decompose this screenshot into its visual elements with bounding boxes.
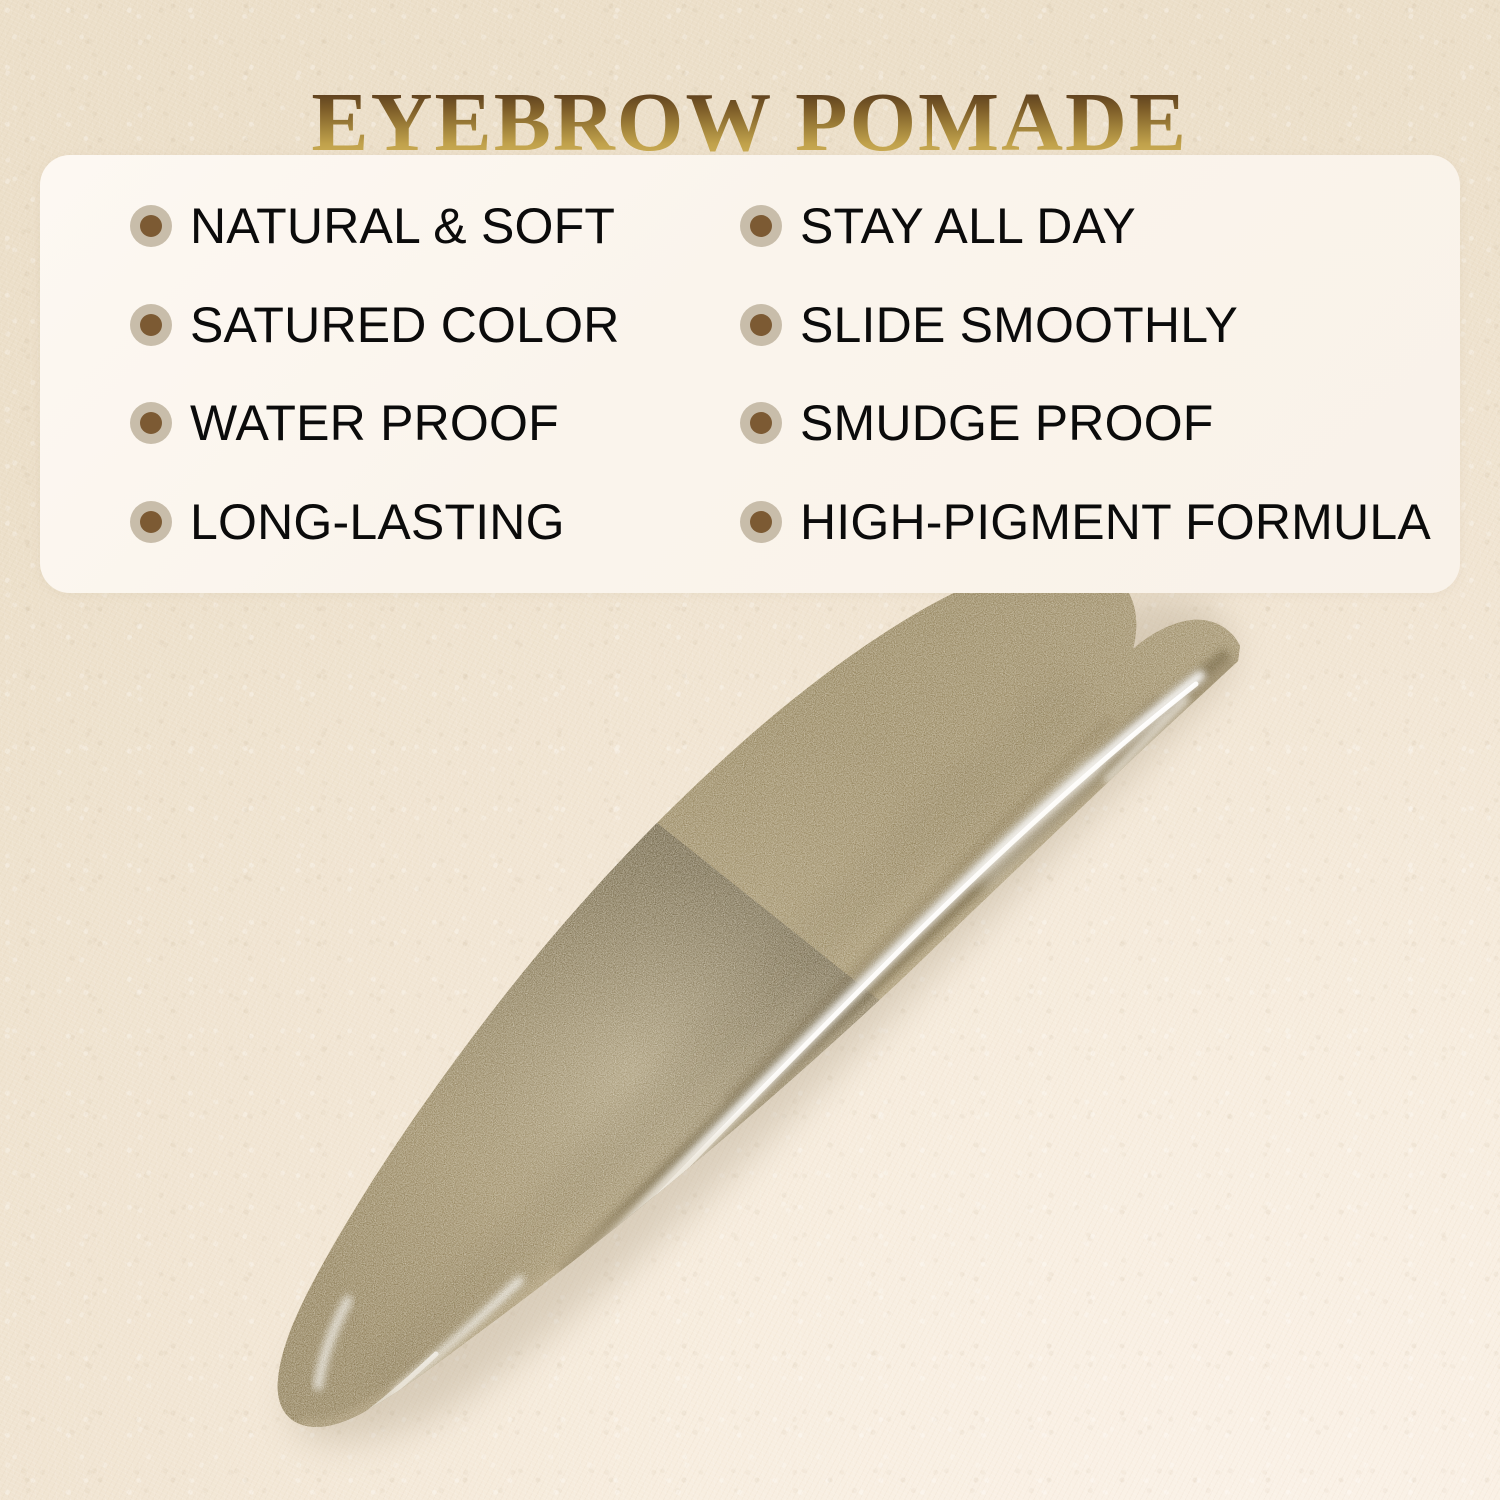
feature-label: LONG-LASTING xyxy=(190,493,565,551)
feature-item-satured-color: SATURED COLOR xyxy=(40,296,640,354)
bullet-dot-icon xyxy=(130,304,172,346)
product-infographic: EYEBROW POMADE NATURAL & SOFT STAY ALL D… xyxy=(0,0,1500,1500)
page-title: EYEBROW POMADE xyxy=(312,78,1189,169)
feature-label: SLIDE SMOOTHLY xyxy=(800,296,1238,354)
feature-item-smudge-proof: SMUDGE PROOF xyxy=(640,394,1460,452)
feature-label: SMUDGE PROOF xyxy=(800,394,1214,452)
bullet-dot-icon xyxy=(130,501,172,543)
feature-label: WATER PROOF xyxy=(190,394,559,452)
feature-item-long-lasting: LONG-LASTING xyxy=(40,493,640,551)
bullet-dot-icon xyxy=(740,304,782,346)
bullet-dot-icon xyxy=(130,402,172,444)
feature-label: HIGH-PIGMENT FORMULA xyxy=(800,493,1431,551)
feature-item-water-proof: WATER PROOF xyxy=(40,394,640,452)
feature-row: SATURED COLOR SLIDE SMOOTHLY xyxy=(40,280,1460,370)
feature-item-high-pigment-formula: HIGH-PIGMENT FORMULA xyxy=(640,493,1460,551)
feature-item-slide-smoothly: SLIDE SMOOTHLY xyxy=(640,296,1460,354)
feature-row: WATER PROOF SMUDGE PROOF xyxy=(40,378,1460,468)
feature-label: SATURED COLOR xyxy=(190,296,620,354)
title-block: EYEBROW POMADE xyxy=(0,22,1500,225)
feature-row: LONG-LASTING HIGH-PIGMENT FORMULA xyxy=(40,477,1460,567)
bullet-dot-icon xyxy=(740,402,782,444)
bullet-dot-icon xyxy=(740,501,782,543)
